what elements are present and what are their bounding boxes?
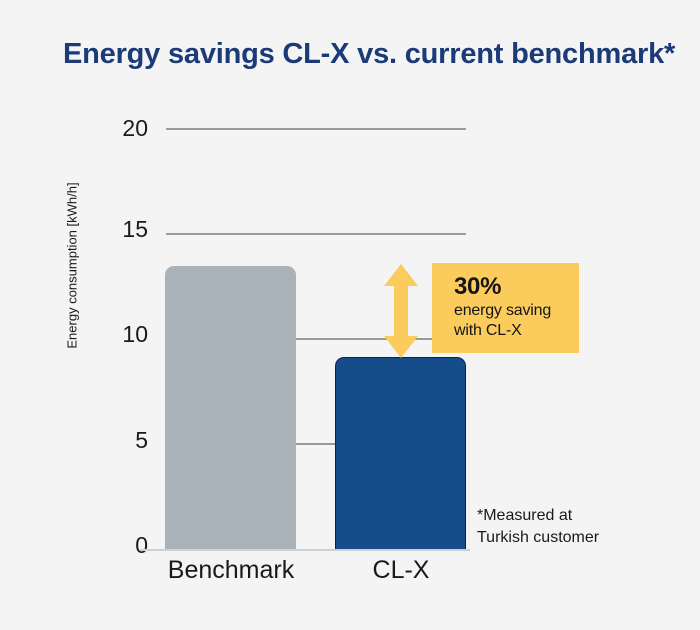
chart-container: Energy savings CL-X vs. current benchmar… (0, 0, 700, 630)
footnote-line-2: Turkish customer (477, 527, 599, 549)
x-axis-baseline (140, 549, 470, 551)
footnote-line-1: *Measured at (477, 505, 599, 527)
y-tick-label-15: 15 (100, 218, 148, 241)
bar-clx (335, 357, 466, 550)
gridline-20 (166, 128, 466, 130)
y-tick-label-10: 10 (100, 323, 148, 346)
gridline-5 (296, 443, 336, 445)
callout-line-2: with CL-X (454, 321, 579, 341)
savings-callout: 30% energy saving with CL-X (432, 263, 579, 353)
bar-benchmark (165, 266, 296, 550)
y-tick-label-0: 0 (100, 534, 148, 557)
callout-percentage: 30% (454, 273, 579, 301)
savings-arrow-icon (380, 262, 422, 360)
callout-line-1: energy saving (454, 301, 579, 321)
y-tick-label-20: 20 (100, 117, 148, 140)
plot-area: Energy consumption [kWh/h] 20 15 10 5 0 … (0, 0, 700, 630)
x-tick-label-benchmark: Benchmark (161, 558, 301, 583)
y-axis-title: Energy consumption [kWh/h] (65, 156, 80, 376)
gridline-15 (166, 233, 466, 235)
y-tick-label-5: 5 (100, 429, 148, 452)
footnote: *Measured at Turkish customer (477, 505, 599, 548)
x-tick-label-clx: CL-X (331, 558, 471, 583)
